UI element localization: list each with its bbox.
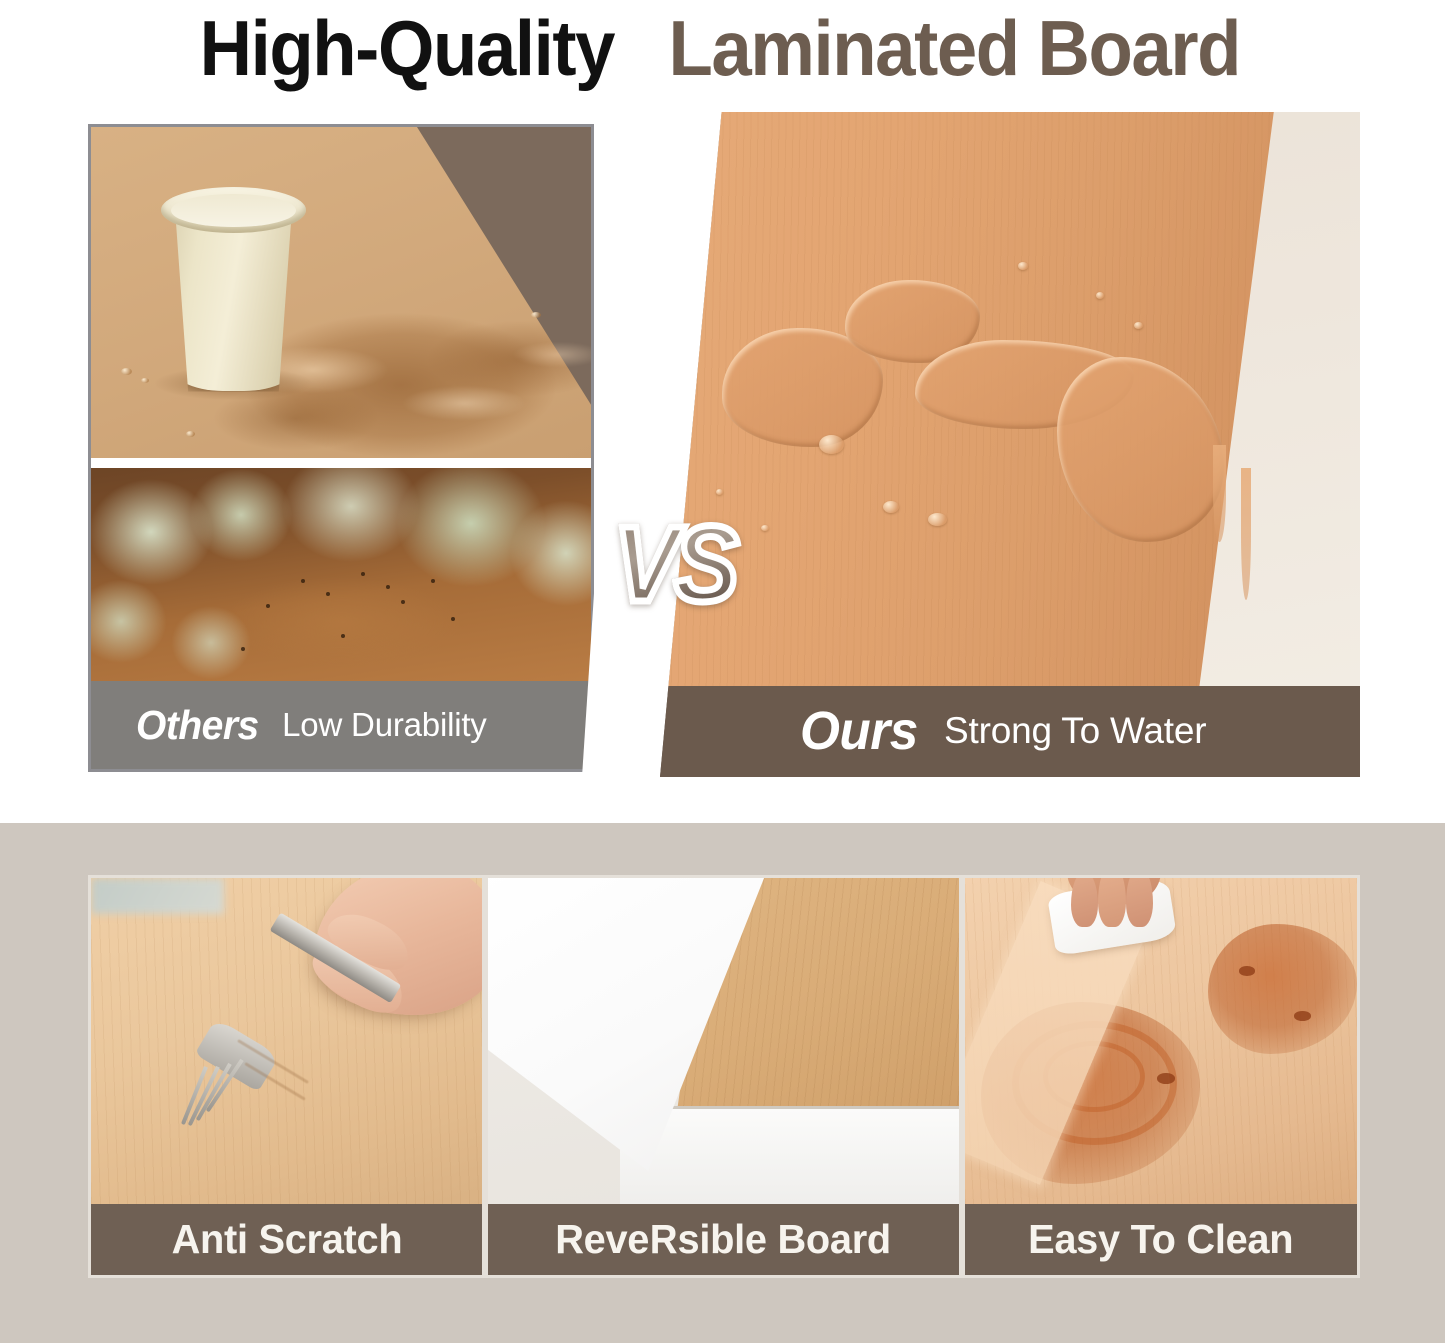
water-bead <box>1096 292 1104 299</box>
others-panel: Others Low Durability <box>88 124 594 772</box>
droplet <box>141 378 149 383</box>
page-title: High-Quality Laminated Board <box>0 0 1445 96</box>
others-label-bar: Others Low Durability <box>91 681 591 769</box>
feature-caption-bar: Easy To Clean <box>965 1204 1357 1275</box>
feature-caption: ReveRsible Board <box>556 1216 892 1263</box>
feature-card-reversible: ReveRsible Board <box>485 875 962 1278</box>
ours-label: Ours <box>800 700 918 762</box>
paper-cup <box>161 183 306 391</box>
title-part-secondary: Laminated Board <box>668 9 1240 87</box>
mold-growth-photo <box>91 468 591 681</box>
others-sublabel: Low Durability <box>282 706 486 744</box>
water-beading-photo <box>660 112 1360 686</box>
wipe-stain-photo <box>965 878 1357 1204</box>
others-label: Others <box>136 702 259 749</box>
mirrored-r-glyph: R <box>650 1216 678 1263</box>
droplet <box>121 368 132 375</box>
reversible-board-photo <box>488 878 959 1204</box>
board-top-surface <box>660 112 1276 686</box>
mold-speck <box>301 579 305 583</box>
water-drip <box>1241 468 1251 600</box>
mold-speck <box>431 579 435 583</box>
sauce-seed <box>1239 966 1255 976</box>
mold-speck <box>451 617 455 621</box>
water-drip <box>1213 445 1226 543</box>
features-section: Anti Scratch ReveRsible Board <box>0 823 1445 1343</box>
water-bead <box>716 489 723 495</box>
mold-speck <box>241 647 245 651</box>
feature-caption-bar: ReveRsible Board <box>488 1204 959 1275</box>
mold-speck <box>326 592 330 596</box>
title-part-primary: High-Quality <box>199 9 613 87</box>
ours-sublabel: Strong To Water <box>944 710 1206 752</box>
feature-caption: Easy To Clean <box>1028 1216 1293 1263</box>
mold-speck <box>341 634 345 638</box>
feature-card-anti-scratch: Anti Scratch <box>88 875 485 1278</box>
mold-speck <box>266 604 270 608</box>
water-bead <box>883 501 899 513</box>
lower-white-panel <box>620 1106 959 1204</box>
fork-scratch-photo <box>91 878 482 1204</box>
ours-panel: Ours Strong To Water <box>660 112 1360 777</box>
feature-caption: Anti Scratch <box>171 1216 402 1263</box>
cup-interior <box>171 194 296 227</box>
feature-card-easy-clean: Easy To Clean <box>962 875 1360 1278</box>
mold-speck <box>361 572 365 576</box>
feature-caption-bar: Anti Scratch <box>91 1204 482 1275</box>
finger <box>1126 878 1153 927</box>
water-bead <box>1134 322 1143 329</box>
product-infographic: High-Quality Laminated Board <box>0 0 1445 1343</box>
comparison-section: Others Low Durability <box>88 112 1360 777</box>
mold-speck <box>386 585 390 589</box>
water-bead <box>761 525 769 531</box>
water-run-off <box>1057 357 1224 542</box>
water-bead <box>819 435 844 454</box>
droplet <box>186 431 195 437</box>
ours-label-bar: Ours Strong To Water <box>660 686 1360 777</box>
photo-backdrop <box>91 878 224 914</box>
mold-speck <box>401 600 405 604</box>
water-bead <box>1018 262 1028 270</box>
sauce-stain <box>1208 924 1357 1054</box>
photo-divider <box>91 458 591 468</box>
finger <box>1098 878 1125 927</box>
water-bead <box>928 513 947 526</box>
finger <box>1071 878 1098 927</box>
spilled-drink-photo <box>91 127 591 458</box>
cup-body <box>167 206 300 391</box>
